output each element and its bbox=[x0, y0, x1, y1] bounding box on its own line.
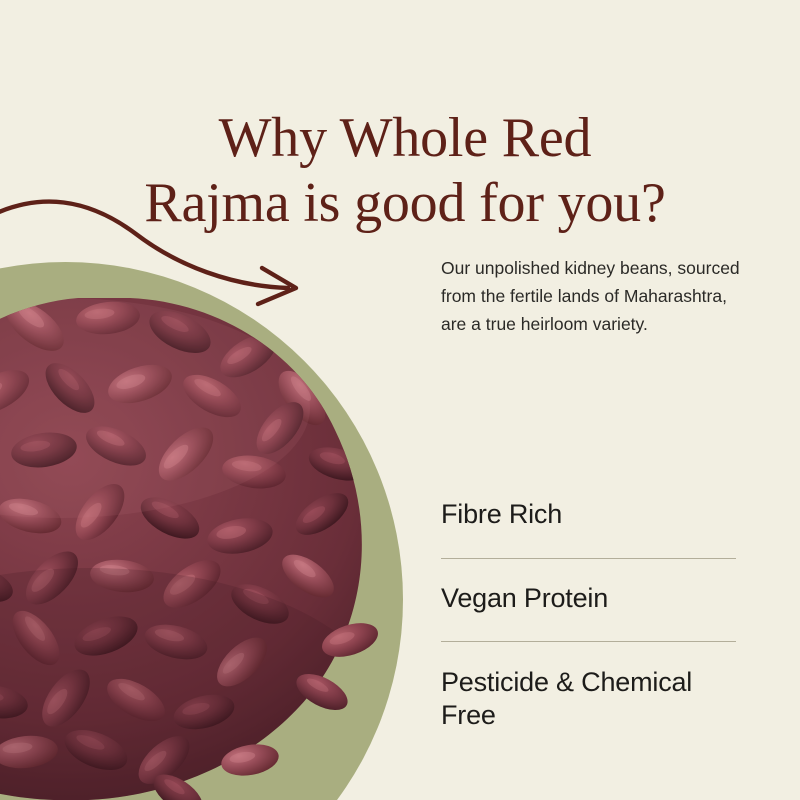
page-title: Why Whole Red Rajma is good for you? bbox=[60, 106, 750, 237]
kidney-beans-pile-image bbox=[0, 288, 410, 800]
feature-item-fibre-rich: Fibre Rich bbox=[441, 498, 736, 558]
headline-line-2: Rajma is good for you? bbox=[60, 171, 750, 237]
feature-item-vegan-protein: Vegan Protein bbox=[441, 559, 736, 641]
feature-list: Fibre Rich Vegan Protein Pesticide & Che… bbox=[441, 498, 736, 733]
feature-item-pesticide-chemical-free: Pesticide & Chemical Free bbox=[441, 642, 736, 734]
headline-line-1: Why Whole Red bbox=[60, 106, 750, 172]
product-description: Our unpolished kidney beans, sourced fro… bbox=[441, 254, 741, 339]
product-benefits-poster: Why Whole Red Rajma is good for you? Our… bbox=[0, 0, 800, 800]
